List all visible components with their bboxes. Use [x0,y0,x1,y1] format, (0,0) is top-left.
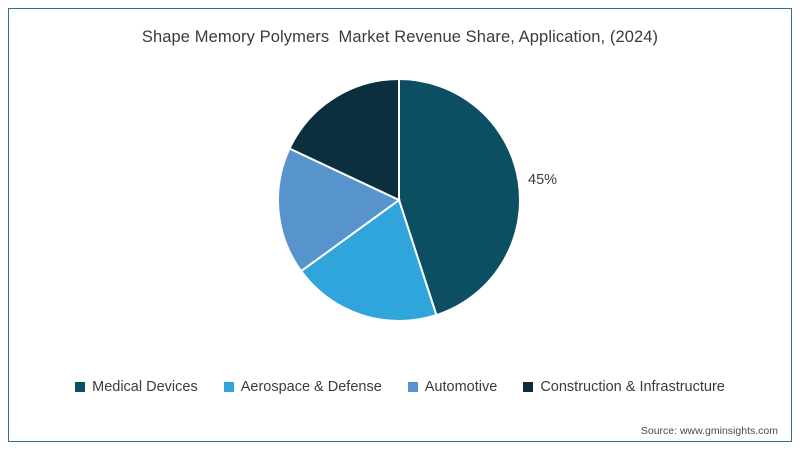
legend-item-label: Aerospace & Defense [241,380,382,395]
slice-percent-label-medical-devices: 45% [528,172,557,188]
legend-swatch-icon [75,382,85,392]
legend-item-automotive[interactable]: Automotive [408,380,498,395]
chart-legend: Medical Devices Aerospace & Defense Auto… [0,380,800,395]
legend-item-label: Automotive [425,380,498,395]
pie-chart-svg [277,78,521,322]
chart-title: Shape Memory Polymers Market Revenue Sha… [0,28,800,47]
pie-chart [277,78,521,322]
legend-swatch-icon [523,382,533,392]
legend-item-construction-infrastructure[interactable]: Construction & Infrastructure [523,380,725,395]
source-attribution: Source: www.gminsights.com [641,425,778,437]
legend-swatch-icon [408,382,418,392]
pie-slice-group [278,79,520,321]
chart-screenshot: Shape Memory Polymers Market Revenue Sha… [0,0,800,450]
legend-item-aerospace-defense[interactable]: Aerospace & Defense [224,380,382,395]
legend-swatch-icon [224,382,234,392]
legend-item-label: Construction & Infrastructure [540,380,725,395]
legend-item-medical-devices[interactable]: Medical Devices [75,380,198,395]
legend-item-label: Medical Devices [92,380,198,395]
